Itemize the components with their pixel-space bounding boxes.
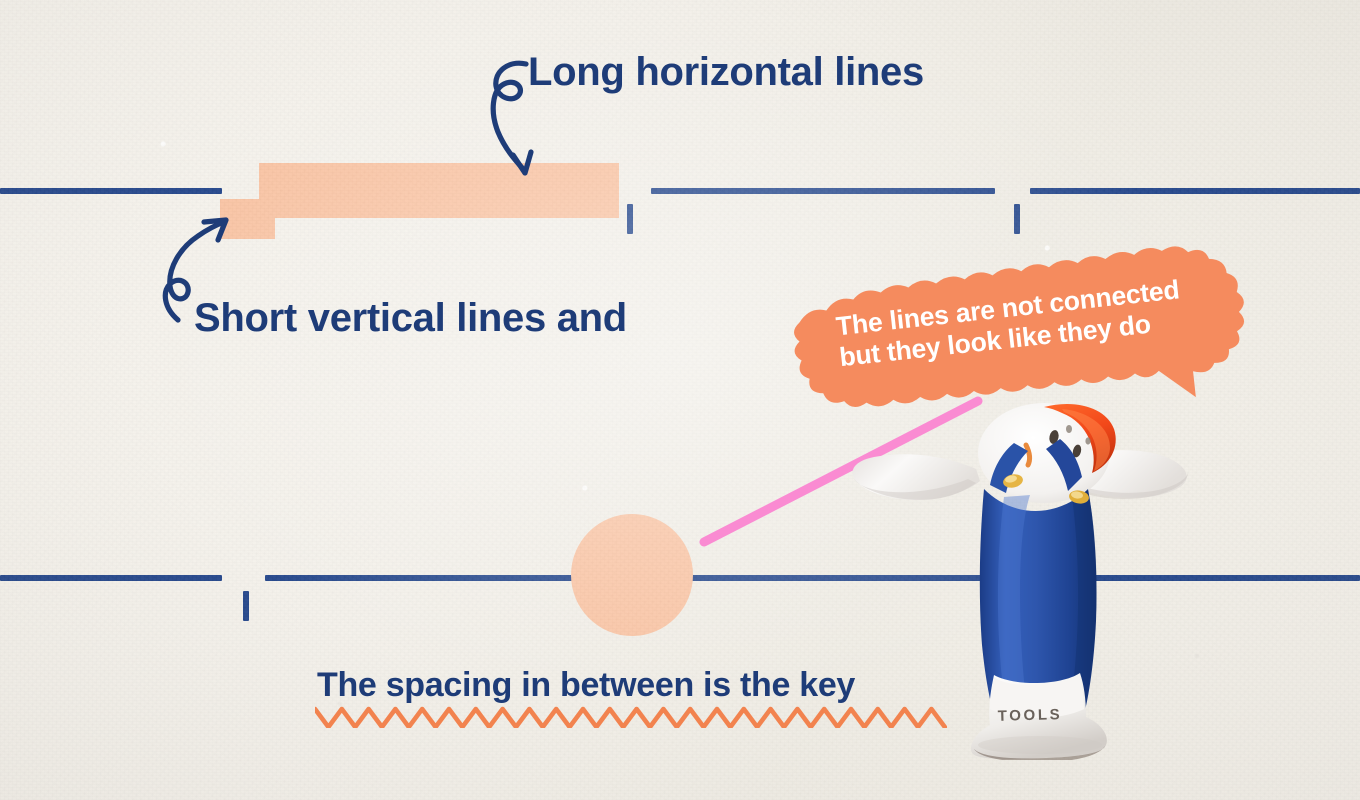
bottom-row-segment [0,575,222,581]
bottom-row-tick [243,591,249,621]
spacing-gap-highlight [571,514,693,636]
top-row-segment [651,188,995,194]
ceramic-figurine [848,393,1193,760]
curly-arrow-up-right-icon [158,212,278,327]
illustration-canvas: Long horizontal lines Short vertical lin… [0,0,1360,800]
label-spacing-is-key: The spacing in between is the key [317,668,855,702]
curly-arrow-down-icon [478,56,588,186]
top-row-tick [627,204,633,234]
figurine-base-text: TOOLS [985,706,1075,725]
top-row-segment [1030,188,1360,194]
top-row-tick [1014,204,1020,234]
bottom-row-segment [265,575,617,581]
top-row-segment [0,188,222,194]
